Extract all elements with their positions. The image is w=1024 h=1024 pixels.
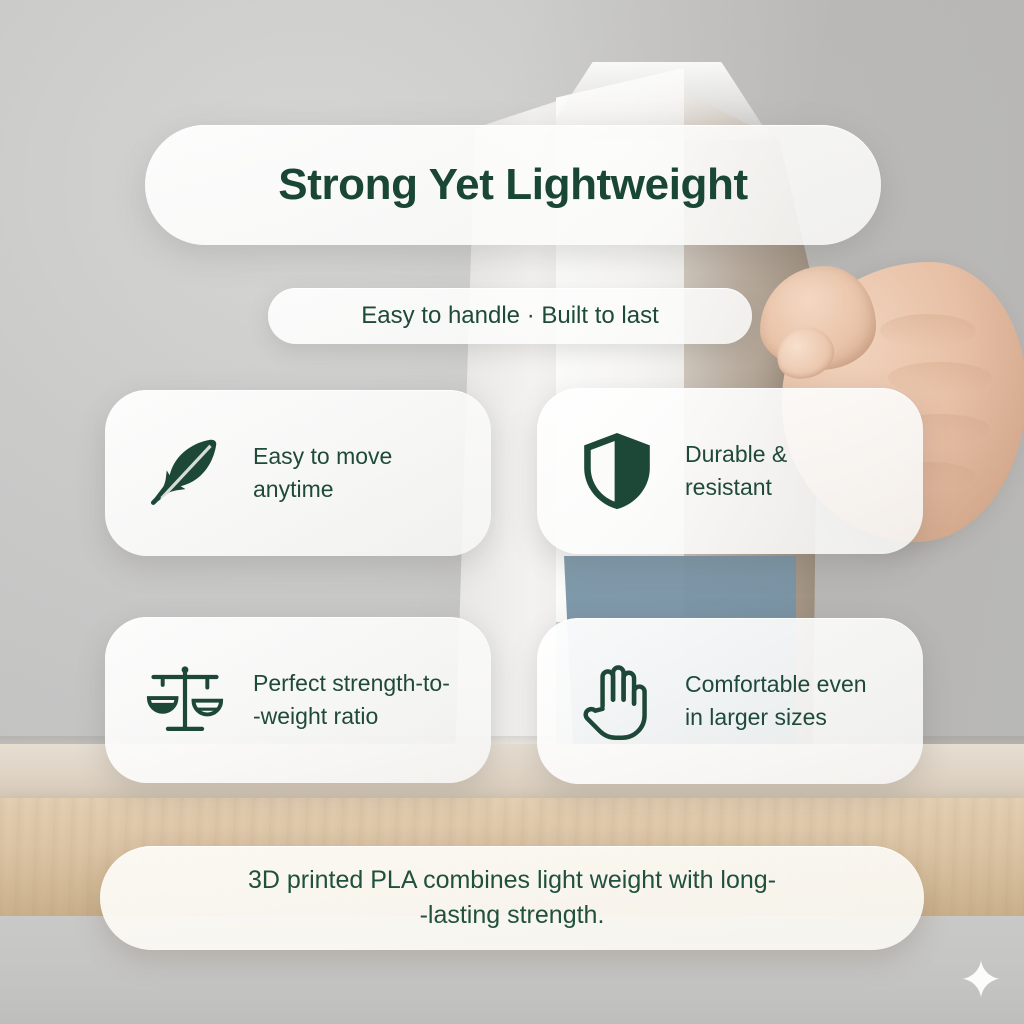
feature-card-text: Durable & resistant (685, 438, 787, 503)
sparkle-icon (960, 958, 1002, 1000)
subtitle-pill: Easy to handle · Built to last (268, 288, 752, 344)
feature-card-comfortable[interactable]: Comfortable even in larger sizes (537, 618, 923, 784)
footer-line-2: -lasting strength. (420, 898, 605, 933)
hand-knuckle (888, 362, 992, 394)
feather-icon (139, 427, 231, 519)
feature-line-1: Comfortable even (685, 671, 867, 697)
feature-line-1: Perfect strength-to- (253, 670, 450, 696)
feature-line-1: Easy to move (253, 443, 392, 469)
feature-line-2: -weight ratio (253, 700, 450, 733)
footer-line-1: 3D printed PLA combines light weight wit… (248, 863, 776, 898)
feature-card-text: Easy to move anytime (253, 440, 392, 505)
feature-line-2: in larger sizes (685, 701, 867, 734)
feature-line-2: anytime (253, 473, 392, 506)
infographic-canvas: Strong Yet Lightweight Easy to handle · … (0, 0, 1024, 1024)
hand-knuckle (880, 314, 976, 348)
hand-thumb (760, 266, 876, 370)
feature-card-easy-to-move[interactable]: Easy to move anytime (105, 390, 491, 556)
page-title: Strong Yet Lightweight (278, 160, 748, 210)
feature-card-text: Perfect strength-to- -weight ratio (253, 667, 450, 732)
feature-line-2: resistant (685, 471, 787, 504)
page-subtitle: Easy to handle · Built to last (361, 302, 659, 330)
footer-banner: 3D printed PLA combines light weight wit… (100, 846, 924, 950)
feature-card-strength-to-weight[interactable]: Perfect strength-to- -weight ratio (105, 617, 491, 783)
title-pill: Strong Yet Lightweight (145, 125, 881, 245)
feature-card-durable[interactable]: Durable & resistant (537, 388, 923, 554)
shield-icon (571, 425, 663, 517)
balance-scale-icon (139, 654, 231, 746)
feature-card-text: Comfortable even in larger sizes (685, 668, 867, 733)
hand-icon (571, 655, 663, 747)
feature-line-1: Durable & (685, 441, 787, 467)
